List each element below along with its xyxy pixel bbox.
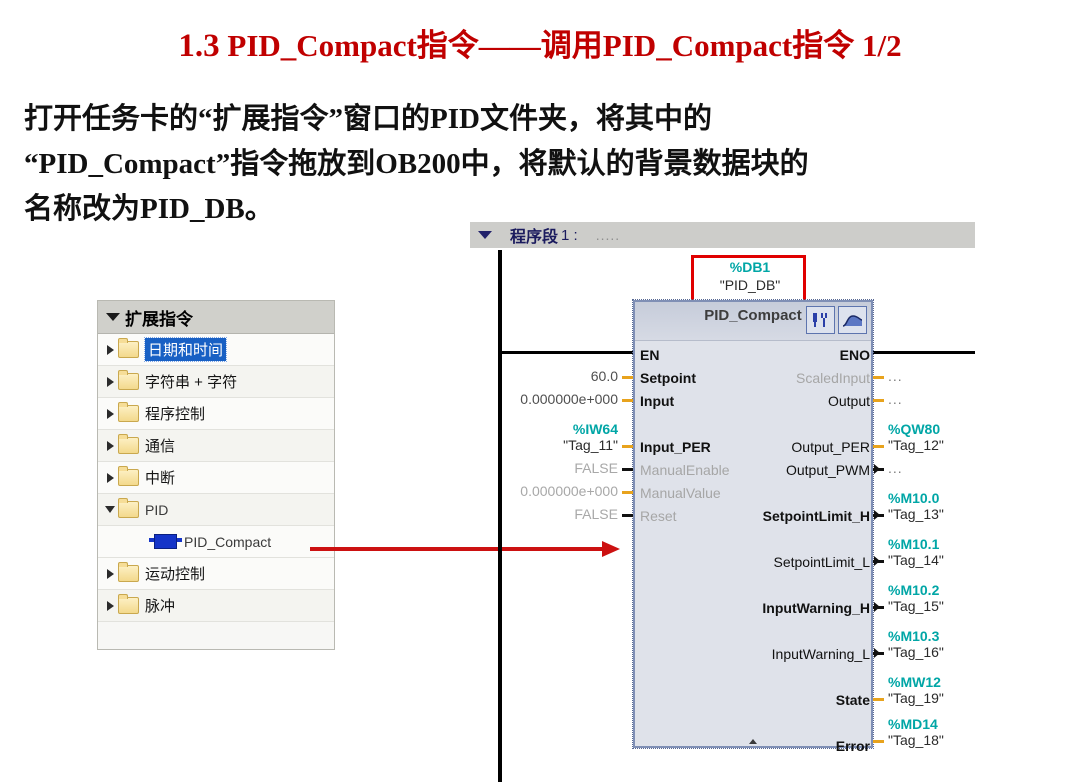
block-resize-handle[interactable] — [749, 739, 757, 744]
network-title: 程序段 — [510, 223, 558, 247]
block-header: PID_Compact — [635, 302, 871, 341]
tree-item-label: PID_Compact — [184, 534, 271, 550]
tag-text: "Tag_19" — [888, 690, 944, 706]
chevron-right-icon[interactable] — [102, 441, 118, 451]
tree-item-date-time[interactable]: 日期和时间 — [98, 334, 334, 366]
value-input[interactable]: 0.000000e+000 — [430, 391, 618, 407]
folder-icon — [118, 469, 139, 486]
function-block-icon — [154, 534, 177, 549]
address-text: %IW64 — [573, 421, 618, 437]
network-number: 1 : — [561, 227, 578, 244]
annotation-highlight-box — [691, 255, 806, 303]
drag-drop-arrow — [310, 540, 620, 558]
eno-rung-wire — [871, 351, 975, 354]
pin-stub-scaled-input — [873, 376, 884, 379]
network-header-bar[interactable]: 程序段 1 : ..... — [470, 222, 975, 248]
pin-stub-input-per — [622, 445, 633, 448]
chevron-down-icon — [106, 313, 120, 321]
param-row-output[interactable]: Output — [635, 393, 875, 409]
chevron-right-icon[interactable] — [102, 601, 118, 611]
param-row-input-warning-h[interactable]: InputWarning_H — [635, 600, 875, 616]
address-text: %M10.1 — [888, 536, 939, 552]
pin-stub-reset — [622, 514, 633, 517]
tag-text: "Tag_16" — [888, 644, 944, 660]
body-line-1: 打开任务卡的“扩展指令”窗口的PID文件夹，将其中的 — [24, 97, 1064, 142]
pin-stub-manual-enable — [622, 468, 633, 471]
tree-item-string-char[interactable]: 字符串 + 字符 — [98, 366, 334, 398]
extended-instructions-panel: 扩展指令 日期和时间 字符串 + 字符 程序控制 通信 中断 PID PID_C… — [97, 300, 335, 650]
tree-item-pid-compact[interactable]: PID_Compact — [98, 526, 334, 558]
page-title-number: 1.3 — [178, 28, 219, 64]
address-text: %QW80 — [888, 421, 940, 437]
tag-text: ... — [888, 460, 903, 476]
pin-arrow-output-pwm — [874, 464, 880, 474]
tree-item-label: 中断 — [145, 467, 175, 488]
value-setpoint[interactable]: 60.0 — [430, 368, 618, 384]
param-row-output-per[interactable]: Output_PER — [635, 439, 875, 455]
address-text: %MD14 — [888, 716, 938, 732]
chevron-right-icon[interactable] — [102, 409, 118, 419]
folder-icon — [118, 341, 139, 358]
tag-text: ... — [888, 391, 903, 407]
value-output-pwm[interactable]: ... — [888, 460, 903, 476]
pin-arrow-setpoint-limit-l — [874, 556, 880, 566]
pin-stub-manual-value — [622, 491, 633, 494]
param-row-scaled-input[interactable]: ScaledInput — [635, 370, 875, 386]
chevron-down-icon[interactable] — [102, 506, 118, 513]
tag-input-warning-l[interactable]: "Tag_16" — [888, 644, 944, 660]
tag-text: "Tag_12" — [888, 437, 944, 453]
value-manual-value[interactable]: 0.000000e+000 — [430, 483, 618, 499]
folder-icon — [118, 597, 139, 614]
pin-label-en: EN — [640, 347, 659, 363]
tree-item-interrupt[interactable]: 中断 — [98, 462, 334, 494]
tag-setpoint-limit-h[interactable]: "Tag_13" — [888, 506, 944, 522]
address-output-per[interactable]: %QW80 — [888, 421, 940, 437]
pin-label-eno: ENO — [840, 347, 870, 363]
value-output[interactable]: ... — [888, 391, 903, 407]
tag-text: "Tag_18" — [888, 732, 944, 748]
folder-icon — [118, 437, 139, 454]
param-row-setpoint-limit-l[interactable]: SetpointLimit_L — [635, 554, 875, 570]
address-input-warning-l[interactable]: %M10.3 — [888, 628, 939, 644]
pin-stub-state — [873, 698, 884, 701]
address-setpoint-limit-l[interactable]: %M10.1 — [888, 536, 939, 552]
tree-item-pid[interactable]: PID — [98, 494, 334, 526]
pin-label-input-warning-l: InputWarning_L — [772, 646, 870, 662]
address-input-warning-h[interactable]: %M10.2 — [888, 582, 939, 598]
folder-icon — [118, 405, 139, 422]
pin-label-state: State — [836, 692, 870, 708]
tag-text: "Tag_11" — [563, 437, 618, 453]
tag-text: "Tag_15" — [888, 598, 944, 614]
tree-item-label: 运动控制 — [145, 563, 205, 584]
tag-text: ... — [888, 368, 903, 384]
address-state[interactable]: %MW12 — [888, 674, 941, 690]
param-row-setpoint-limit-h[interactable]: SetpointLimit_H — [635, 508, 875, 524]
body-line-2: “PID_Compact”指令拖放到OB200中，将默认的背景数据块的 — [24, 142, 1064, 187]
commissioning-curve-icon[interactable] — [838, 306, 867, 334]
tree-item-pulse[interactable]: 脉冲 — [98, 590, 334, 622]
address-text: %M10.2 — [888, 582, 939, 598]
address-error[interactable]: %MD14 — [888, 716, 938, 732]
pin-label-setpoint-limit-l: SetpointLimit_L — [773, 554, 870, 570]
folder-icon — [118, 565, 139, 582]
chevron-right-icon[interactable] — [102, 345, 118, 355]
panel-header[interactable]: 扩展指令 — [98, 301, 334, 334]
pin-stub-input — [622, 399, 633, 402]
address-text: %M10.0 — [888, 490, 939, 506]
pin-stub-error — [873, 740, 884, 743]
value-manual-enable[interactable]: FALSE — [430, 460, 618, 476]
pin-label-manual-value: ManualValue — [640, 485, 721, 501]
param-row-manual-value[interactable]: ManualValue — [635, 485, 875, 501]
tree-item-motion-control[interactable]: 运动控制 — [98, 558, 334, 590]
tag-error[interactable]: "Tag_18" — [888, 732, 944, 748]
page-title-text: PID_Compact指令——调用PID_Compact指令 1/2 — [227, 28, 901, 63]
slide-body-text: 打开任务卡的“扩展指令”窗口的PID文件夹，将其中的 “PID_Compact”… — [24, 97, 1064, 232]
pin-label-scaled-input: ScaledInput — [796, 370, 870, 386]
param-row-output-pwm[interactable]: Output_PWM — [635, 462, 875, 478]
pin-label-output-per: Output_PER — [791, 439, 870, 455]
chevron-right-icon[interactable] — [102, 473, 118, 483]
pin-arrow-input-warning-l — [874, 648, 880, 658]
value-scaled-input[interactable]: ... — [888, 368, 903, 384]
folder-icon — [118, 373, 139, 390]
tag-input-per[interactable]: "Tag_11" — [430, 437, 618, 453]
pin-arrow-input-warning-h — [874, 602, 880, 612]
pin-label-output-pwm: Output_PWM — [786, 462, 870, 478]
pin-arrow-setpoint-limit-h — [874, 510, 880, 520]
tag-text: "Tag_13" — [888, 506, 944, 522]
en-rung-wire — [498, 351, 635, 354]
folder-icon — [118, 501, 139, 518]
network-comment: ..... — [596, 227, 620, 243]
address-text: %MW12 — [888, 674, 941, 690]
tree-item-label: 脉冲 — [145, 595, 175, 616]
address-input-per[interactable]: %IW64 — [430, 421, 618, 437]
tree-item-communication[interactable]: 通信 — [98, 430, 334, 462]
pin-label-input-warning-h: InputWarning_H — [762, 600, 870, 616]
tag-setpoint-limit-l[interactable]: "Tag_14" — [888, 552, 944, 568]
param-row-state[interactable]: State — [635, 692, 875, 708]
param-row-input-warning-l[interactable]: InputWarning_L — [635, 646, 875, 662]
address-setpoint-limit-h[interactable]: %M10.0 — [888, 490, 939, 506]
tree-item-label: 程序控制 — [145, 403, 205, 424]
tree-item-label: 通信 — [145, 435, 175, 456]
pin-stub-output — [873, 399, 884, 402]
page-title: 1.3 PID_Compact指令——调用PID_Compact指令 1/2 — [0, 20, 1080, 65]
tag-input-warning-h[interactable]: "Tag_15" — [888, 598, 944, 614]
tree-item-label: PID — [145, 502, 168, 518]
tag-output-per[interactable]: "Tag_12" — [888, 437, 944, 453]
tree-item-program-control[interactable]: 程序控制 — [98, 398, 334, 430]
chevron-down-icon[interactable] — [478, 231, 492, 239]
chevron-right-icon[interactable] — [102, 377, 118, 387]
chevron-right-icon[interactable] — [102, 569, 118, 579]
tag-text: "Tag_14" — [888, 552, 944, 568]
pin-label-output: Output — [828, 393, 870, 409]
pid-compact-block[interactable]: PID_Compact EN ENO Setpoint I — [633, 300, 873, 748]
tree-item-label: 字符串 + 字符 — [145, 371, 237, 392]
panel-header-label: 扩展指令 — [125, 305, 193, 330]
pin-stub-setpoint — [622, 376, 633, 379]
configure-tool-icon[interactable] — [806, 306, 835, 334]
pin-label-error: Error — [836, 738, 870, 754]
block-tool-buttons — [806, 306, 867, 334]
tag-state[interactable]: "Tag_19" — [888, 690, 944, 706]
address-text: %M10.3 — [888, 628, 939, 644]
tree-item-label: 日期和时间 — [145, 338, 226, 361]
pin-stub-output-per — [873, 445, 884, 448]
param-row-en-eno: EN ENO — [635, 347, 875, 363]
value-reset[interactable]: FALSE — [430, 506, 618, 522]
pin-label-setpoint-limit-h: SetpointLimit_H — [763, 508, 870, 524]
